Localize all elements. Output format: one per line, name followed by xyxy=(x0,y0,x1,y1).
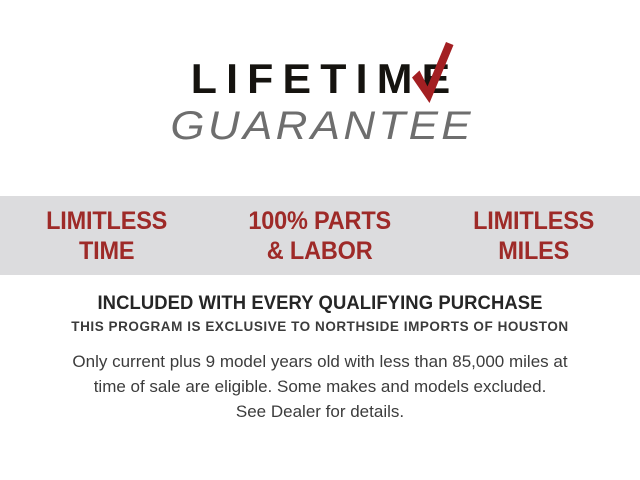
benefit-line-2: MILES xyxy=(433,236,634,266)
logo-block: LIFETIME GUARANTEE xyxy=(0,56,640,148)
logo-word-guarantee: GUARANTEE xyxy=(167,104,474,148)
benefit-column-miles: LIMITLESS MILES xyxy=(427,206,640,266)
fineprint-block: Only current plus 9 model years old with… xyxy=(0,349,640,424)
logo-lockup: LIFETIME GUARANTEE xyxy=(181,56,460,148)
fineprint-line: Only current plus 9 model years old with… xyxy=(0,349,640,374)
benefit-column-parts-labor: 100% PARTS & LABOR xyxy=(213,206,426,266)
fineprint-line: time of sale are eligible. Some makes an… xyxy=(0,374,640,399)
benefit-line-1: LIMITLESS xyxy=(6,206,207,236)
benefit-line-2: & LABOR xyxy=(220,236,421,266)
benefit-column-time: LIMITLESS TIME xyxy=(0,206,213,266)
fineprint-line: See Dealer for details. xyxy=(0,399,640,424)
lifetime-guarantee-ad: LIFETIME GUARANTEE LIMITLESS TIME 100% P… xyxy=(0,0,640,480)
copy-block: INCLUDED WITH EVERY QUALIFYING PURCHASE … xyxy=(0,292,640,424)
logo-word-lifetime: LIFETIME xyxy=(178,56,463,102)
subheadline: THIS PROGRAM IS EXCLUSIVE TO NORTHSIDE I… xyxy=(0,318,640,336)
benefit-line-2: TIME xyxy=(6,236,207,266)
benefit-line-1: LIMITLESS xyxy=(433,206,634,236)
benefits-band: LIMITLESS TIME 100% PARTS & LABOR LIMITL… xyxy=(0,196,640,275)
benefit-line-1: 100% PARTS xyxy=(220,206,421,236)
headline: INCLUDED WITH EVERY QUALIFYING PURCHASE xyxy=(10,292,631,316)
